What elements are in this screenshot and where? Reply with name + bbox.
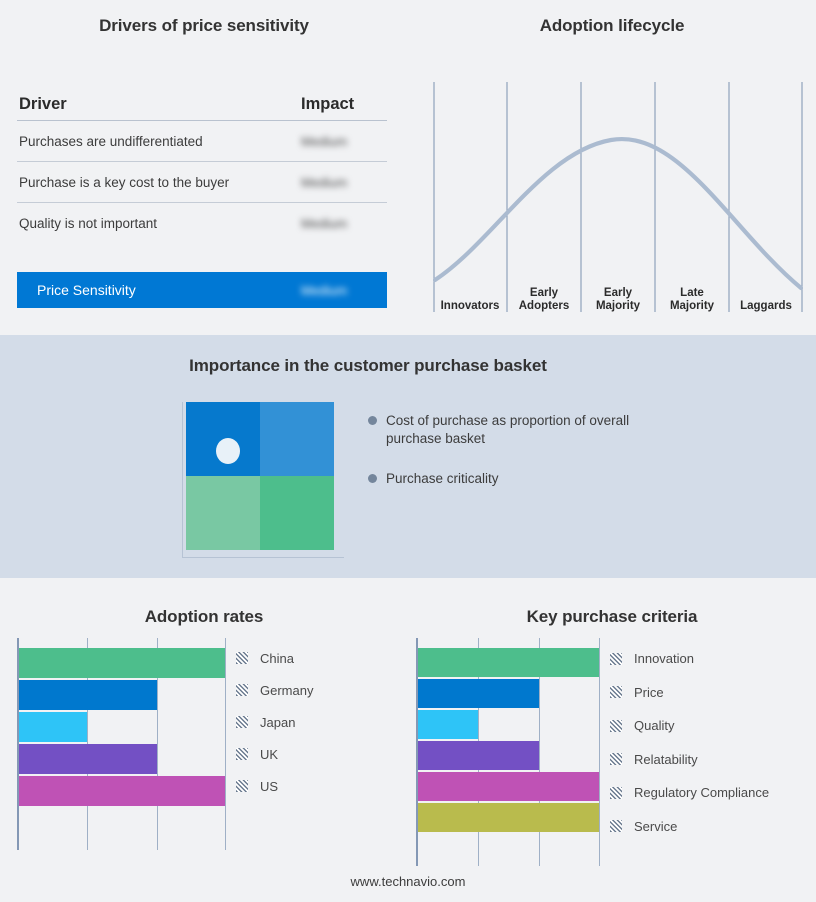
adoption-plot-area	[17, 638, 225, 850]
bar	[418, 710, 478, 739]
hatch-swatch-icon	[236, 716, 248, 728]
bar	[418, 648, 599, 677]
adoption-rates-chart	[17, 638, 225, 850]
column-header-impact: Impact	[301, 95, 387, 114]
bar-row	[418, 741, 599, 770]
lifecycle-stage-laggards: Laggards	[729, 287, 803, 316]
legend-label: Price	[634, 685, 664, 700]
hatch-swatch-icon	[236, 652, 248, 664]
legend-label: Innovation	[634, 651, 694, 666]
legend-item: Regulatory Compliance	[610, 776, 769, 810]
bar-row	[418, 648, 599, 677]
drivers-panel-title: Drivers of price sensitivity	[0, 16, 408, 36]
lifecycle-stage-innovators: Innovators	[433, 287, 507, 316]
bar-row	[19, 648, 225, 678]
matrix-x-axis	[182, 557, 344, 558]
drivers-table: Driver Impact Purchases are undifferenti…	[17, 88, 387, 244]
stage-line-1: Late	[680, 287, 704, 299]
impact-value: Medium	[301, 175, 387, 190]
legend-label: UK	[260, 747, 278, 762]
lifecycle-stage-labels: Innovators Early Adopters Early Majority…	[433, 278, 803, 316]
lifecycle-stage-early-majority: Early Majority	[581, 287, 655, 316]
impact-value: Medium	[301, 216, 387, 231]
bar-row	[19, 744, 225, 774]
bar	[418, 679, 539, 708]
bar-row	[19, 712, 225, 742]
matrix-position-marker	[216, 438, 240, 464]
purchase-basket-matrix	[182, 402, 346, 562]
legend-label: US	[260, 779, 278, 794]
lifecycle-stage-late-majority: Late Majority	[655, 287, 729, 316]
bar-row	[418, 772, 599, 801]
stage-line-2: Laggards	[740, 300, 792, 312]
bar-row	[19, 776, 225, 806]
legend-label: Cost of purchase as proportion of overal…	[386, 412, 638, 448]
legend-item: US	[236, 770, 313, 802]
legend-label: Japan	[260, 715, 295, 730]
bar	[418, 803, 599, 832]
hatch-swatch-icon	[610, 686, 622, 698]
adoption-bell-curve	[435, 139, 801, 288]
legend-item: Quality	[610, 709, 769, 743]
table-row: Purchases are undifferentiated Medium	[17, 121, 387, 162]
bar	[19, 648, 225, 678]
legend-item: Japan	[236, 706, 313, 738]
legend-item: Cost of purchase as proportion of overal…	[368, 412, 668, 448]
stage-line-1: Early	[530, 287, 558, 299]
summary-impact-value: Medium	[301, 283, 387, 298]
bar	[418, 772, 599, 801]
legend-item: China	[236, 642, 313, 674]
matrix-y-axis	[182, 402, 183, 558]
stage-line-2: Adopters	[519, 300, 569, 312]
panel-adoption-lifecycle: Adoption lifecycle Innovators	[408, 0, 816, 335]
key-purchase-criteria-legend: InnovationPriceQualityRelatabilityRegula…	[610, 642, 769, 843]
hatch-swatch-icon	[236, 684, 248, 696]
stage-line-2: Majority	[596, 300, 640, 312]
stage-line-1: Early	[604, 287, 632, 299]
legend-label: Germany	[260, 683, 313, 698]
legend-label: Service	[634, 819, 677, 834]
legend-item: Relatability	[610, 743, 769, 777]
criteria-plot-area	[416, 638, 599, 866]
table-row: Quality is not important Medium	[17, 203, 387, 244]
bar	[418, 741, 539, 770]
driver-label: Quality is not important	[17, 216, 301, 231]
driver-label: Purchases are undifferentiated	[17, 134, 301, 149]
lifecycle-stage-early-adopters: Early Adopters	[507, 287, 581, 316]
basket-legend: Cost of purchase as proportion of overal…	[368, 412, 668, 510]
infographic-page: Drivers of price sensitivity Driver Impa…	[0, 0, 816, 902]
matrix-quadrants	[186, 402, 334, 550]
footer-url: www.technavio.com	[0, 874, 816, 889]
basket-panel-title: Importance in the customer purchase bask…	[0, 356, 736, 376]
bar-row	[418, 803, 599, 832]
hatch-swatch-icon	[610, 653, 622, 665]
table-header-row: Driver Impact	[17, 88, 387, 121]
bar	[19, 744, 157, 774]
legend-label: Regulatory Compliance	[634, 785, 769, 800]
bar	[19, 712, 87, 742]
hatch-swatch-icon	[610, 753, 622, 765]
bar	[19, 680, 157, 710]
impact-value: Medium	[301, 134, 387, 149]
legend-item: Germany	[236, 674, 313, 706]
adoption-rates-title: Adoption rates	[0, 607, 408, 627]
panel-adoption-rates: Adoption rates ChinaGermanyJapanUKUS	[0, 578, 408, 902]
stage-line-2: Innovators	[441, 300, 500, 312]
lifecycle-panel-title: Adoption lifecycle	[408, 16, 816, 36]
legend-item: UK	[236, 738, 313, 770]
gridline	[225, 638, 226, 850]
stage-line-2: Majority	[670, 300, 714, 312]
quadrant-bottom-left	[186, 476, 260, 550]
bullet-icon	[368, 474, 377, 483]
hatch-swatch-icon	[236, 748, 248, 760]
driver-label: Purchase is a key cost to the buyer	[17, 175, 301, 190]
bar-row	[19, 680, 225, 710]
hatch-swatch-icon	[610, 820, 622, 832]
bar-rows	[19, 648, 225, 808]
panel-key-purchase-criteria: Key purchase criteria InnovationPriceQua…	[408, 578, 816, 902]
hatch-swatch-icon	[236, 780, 248, 792]
legend-item: Purchase criticality	[368, 470, 668, 488]
bar-row	[418, 710, 599, 739]
legend-label: Relatability	[634, 752, 698, 767]
hatch-swatch-icon	[610, 787, 622, 799]
key-purchase-criteria-chart	[416, 638, 599, 866]
legend-item: Price	[610, 676, 769, 710]
bullet-icon	[368, 416, 377, 425]
legend-item: Service	[610, 810, 769, 844]
legend-label: China	[260, 651, 294, 666]
bar	[19, 776, 225, 806]
bar-row	[418, 679, 599, 708]
price-sensitivity-summary-bar: Price Sensitivity Medium	[17, 272, 387, 308]
key-purchase-criteria-title: Key purchase criteria	[408, 607, 816, 627]
legend-label: Purchase criticality	[386, 470, 499, 488]
legend-label: Quality	[634, 718, 674, 733]
bar-rows	[418, 648, 599, 834]
quadrant-top-right	[260, 402, 334, 476]
gridline	[599, 638, 600, 866]
panel-drivers-of-price-sensitivity: Drivers of price sensitivity Driver Impa…	[0, 0, 408, 335]
hatch-swatch-icon	[610, 720, 622, 732]
adoption-rates-legend: ChinaGermanyJapanUKUS	[236, 642, 313, 802]
table-row: Purchase is a key cost to the buyer Medi…	[17, 162, 387, 203]
column-header-driver: Driver	[17, 95, 301, 114]
summary-label: Price Sensitivity	[37, 282, 301, 298]
legend-item: Innovation	[610, 642, 769, 676]
quadrant-bottom-right	[260, 476, 334, 550]
